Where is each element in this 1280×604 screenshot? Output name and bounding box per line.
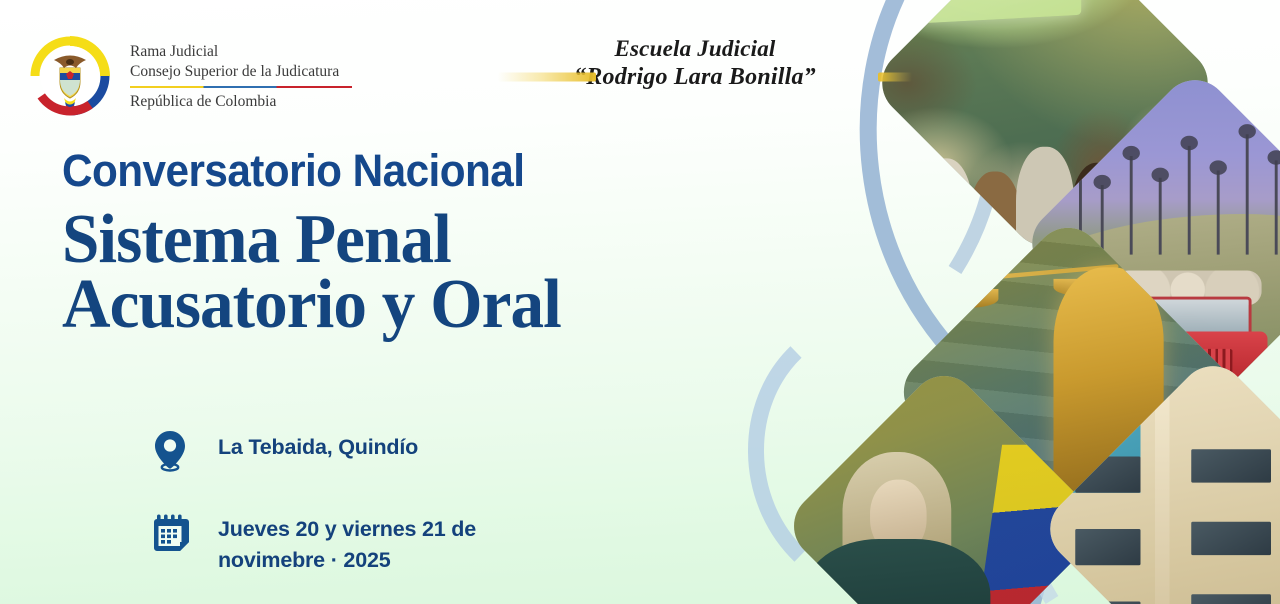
title-main-line-2: Acusatorio y Oral [62, 270, 561, 339]
gold-accent-right-icon [878, 73, 912, 82]
detail-location: La Tebaida, Quindío [148, 428, 476, 472]
title-kicker: Conversatorio Nacional [62, 148, 550, 193]
detail-date: Jueves 20 y viernes 21 de novimebre · 20… [148, 510, 476, 575]
escuela-judicial-block: Escuela Judicial “Rodrigo Lara Bonilla” [500, 36, 890, 91]
event-banner: PALACIO DE JUSTICIA [0, 0, 1280, 604]
institution-branding: Rama Judicial Consejo Superior de la Jud… [24, 30, 352, 122]
location-text: La Tebaida, Quindío [218, 428, 418, 463]
page-title: Conversatorio Nacional Sistema Penal Acu… [62, 148, 582, 340]
date-text: Jueves 20 y viernes 21 de novimebre · 20… [218, 510, 476, 575]
event-details: La Tebaida, Quindío [148, 428, 476, 575]
gold-accent-left-icon [498, 73, 596, 82]
date-line-1: Jueves 20 y viernes 21 de [218, 517, 476, 541]
escuela-line-1: Escuela Judicial [500, 36, 890, 62]
institution-text: Rama Judicial Consejo Superior de la Jud… [130, 40, 352, 113]
institution-line-3: República de Colombia [130, 92, 352, 112]
calendar-icon [148, 510, 192, 554]
escuela-line-2: “Rodrigo Lara Bonilla” [574, 64, 816, 91]
location-pin-icon [148, 428, 192, 472]
title-main-line-1: Sistema Penal [62, 205, 561, 274]
colombia-coat-of-arms-icon [24, 30, 116, 122]
tricolor-divider [130, 86, 352, 89]
photo-collage: PALACIO DE JUSTICIA [850, 0, 1280, 604]
institution-line-2: Consejo Superior de la Judicatura [130, 62, 352, 82]
date-line-2: novimebre · 2025 [218, 548, 390, 572]
institution-line-1: Rama Judicial [130, 42, 352, 62]
